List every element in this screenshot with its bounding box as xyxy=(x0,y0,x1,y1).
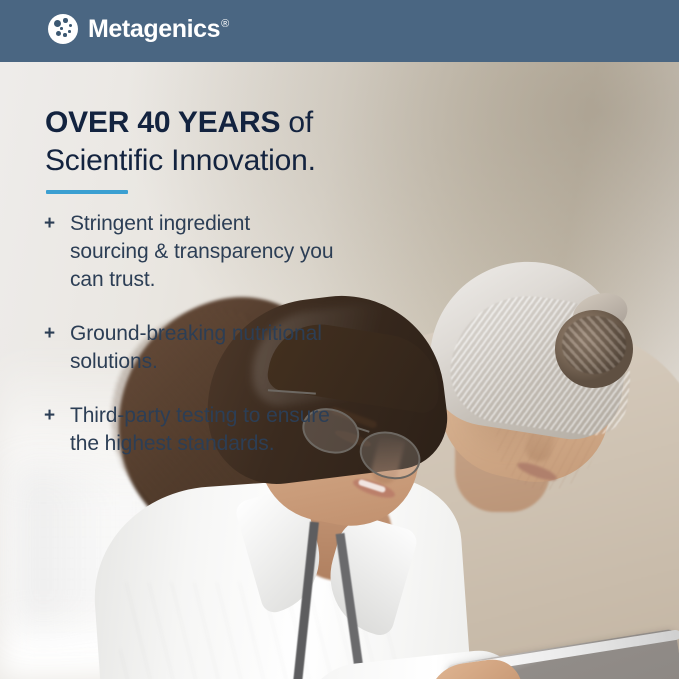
brand-name-text: Metagenics xyxy=(88,15,220,43)
plus-icon: + xyxy=(44,402,70,428)
list-item: + Ground-breaking nutritional solutions. xyxy=(44,320,334,376)
brand-header-bar: Metagenics® xyxy=(0,0,679,62)
list-item: + Stringent ingredient sourcing & transp… xyxy=(44,210,334,294)
list-item-label: Ground-breaking nutritional solutions. xyxy=(70,320,334,376)
metagenics-promo-card: Metagenics® OVER 40 YEARS of Scientific … xyxy=(0,0,679,679)
patient-hair-bun-texture xyxy=(562,316,626,374)
registered-trademark-icon: ® xyxy=(221,18,229,30)
list-item-label: Third-party testing to ensure the highes… xyxy=(70,402,334,458)
cell-molecule-icon xyxy=(48,14,78,44)
list-item: + Third-party testing to ensure the high… xyxy=(44,402,334,458)
brand-lockup[interactable]: Metagenics® xyxy=(48,14,229,44)
headline-line-two: Scientific Innovation. xyxy=(45,142,465,180)
accent-divider xyxy=(46,190,128,194)
brand-name: Metagenics® xyxy=(88,17,229,42)
plus-icon: + xyxy=(44,320,70,346)
page-title: OVER 40 YEARS of Scientific Innovation. xyxy=(45,104,465,181)
headline-emphasis: OVER 40 YEARS xyxy=(45,106,280,139)
headline-connector: of xyxy=(280,106,313,139)
list-item-label: Stringent ingredient sourcing & transpar… xyxy=(70,210,334,294)
plus-icon: + xyxy=(44,210,70,236)
benefits-list: + Stringent ingredient sourcing & transp… xyxy=(44,210,334,483)
